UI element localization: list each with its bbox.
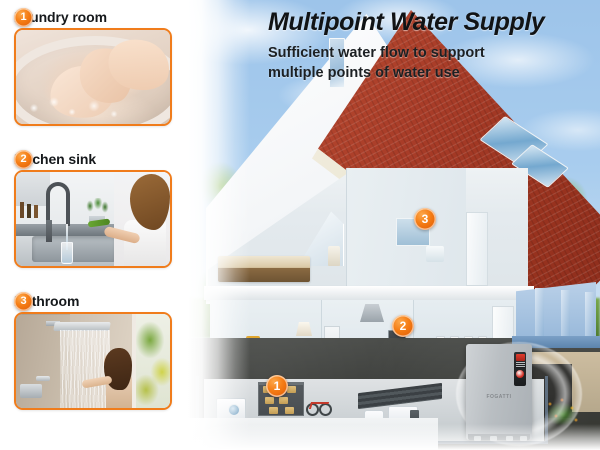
kitchen-upper-cabinet bbox=[16, 172, 50, 206]
feature-badge-1: 1 bbox=[14, 8, 33, 27]
bathroom-photo bbox=[16, 314, 170, 408]
feature-item-laundry-room[interactable]: 1 Laundry room bbox=[14, 6, 176, 126]
feature-item-kitchen-sink[interactable]: 2 Kitchen sink bbox=[14, 148, 176, 268]
subtitle-line-1: Sufficient water flow to support bbox=[268, 44, 485, 64]
kitchen-bottles bbox=[18, 202, 48, 218]
feature-badge-2: 2 bbox=[14, 150, 33, 169]
scene-badge-1: 1 bbox=[266, 375, 288, 397]
feature-header: 3 Bathroom bbox=[14, 290, 176, 312]
shower-handle bbox=[36, 376, 50, 381]
feature-badge-3: 3 bbox=[14, 292, 33, 311]
attic-floor-lamp bbox=[328, 246, 340, 266]
falling-water bbox=[60, 330, 110, 410]
kitchen-photo bbox=[16, 172, 170, 266]
scene-left-fade bbox=[188, 0, 250, 450]
faucet-base bbox=[46, 220, 52, 242]
scene-badge-2: 2 bbox=[392, 315, 414, 337]
shower-valve bbox=[20, 384, 42, 398]
window-garden-view bbox=[136, 314, 170, 408]
feature-list: 1 Laundry room 2 Kitchen sink bbox=[0, 0, 190, 450]
soap-suds bbox=[22, 92, 132, 126]
heater-control-knob[interactable] bbox=[516, 370, 524, 378]
feature-thumbnail-bathroom[interactable] bbox=[14, 312, 172, 410]
bathroom-door bbox=[466, 212, 488, 286]
feature-thumbnail-laundry-room[interactable] bbox=[14, 28, 172, 126]
attic-floor-slab bbox=[204, 286, 534, 300]
drinking-glass bbox=[61, 242, 73, 264]
page-title: Multipoint Water Supply bbox=[268, 8, 544, 37]
heater-panel-labels bbox=[516, 362, 525, 368]
feature-header: 2 Kitchen sink bbox=[14, 148, 176, 170]
kitchen-sink-basin bbox=[32, 236, 116, 262]
laundry-photo bbox=[16, 30, 170, 124]
feature-thumbnail-kitchen-sink[interactable] bbox=[14, 170, 172, 268]
subtitle-line-2: multiple points of water use bbox=[268, 64, 485, 84]
infographic-page: FOGATTI 3 2 1 Multipoint Water Supply Su… bbox=[0, 0, 600, 450]
porch-column bbox=[561, 290, 570, 342]
page-subtitle: Sufficient water flow to support multipl… bbox=[268, 44, 485, 83]
bathroom-sink-fixture bbox=[426, 246, 444, 262]
scene-bottom-fade bbox=[188, 424, 600, 450]
scene-badge-3: 3 bbox=[414, 208, 436, 230]
shower-glass-panel bbox=[132, 314, 136, 408]
feature-item-bathroom[interactable]: 3 Bathroom bbox=[14, 290, 176, 410]
heater-brand-label: FOGATTI bbox=[466, 394, 532, 400]
heater-display-screen bbox=[516, 354, 525, 361]
porch-column bbox=[535, 288, 544, 340]
feature-header: 1 Laundry room bbox=[14, 6, 176, 28]
